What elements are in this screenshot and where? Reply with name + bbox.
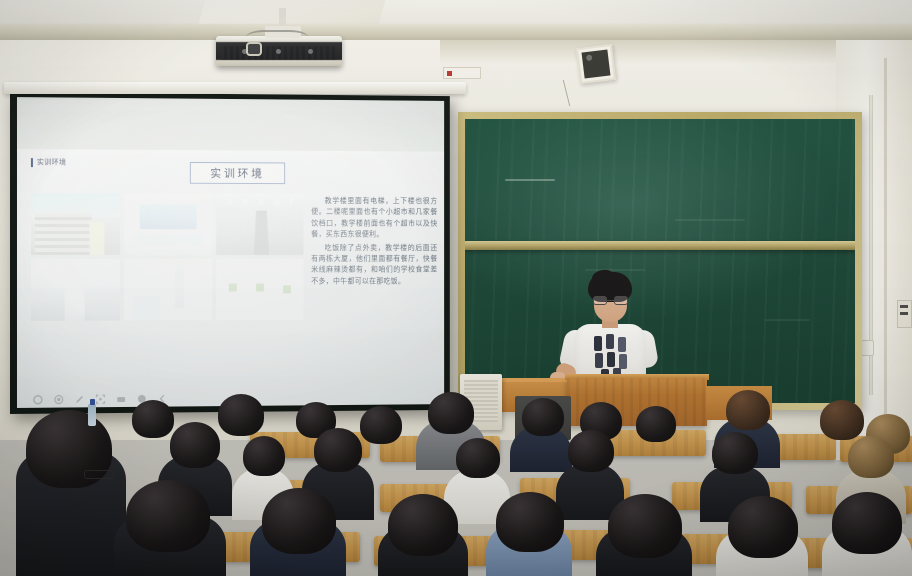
projector-lens xyxy=(246,42,262,56)
slide-photo-lecture-hall-interior xyxy=(216,194,303,255)
slide-title-box: 实训环境 xyxy=(190,162,285,184)
slide-photo-corridor-lit xyxy=(31,259,120,321)
projector-indicator xyxy=(276,49,281,54)
student-presenter xyxy=(556,272,660,390)
chalkboard-surface xyxy=(465,119,855,403)
glasses-bridge xyxy=(607,300,614,301)
student-head xyxy=(636,406,676,442)
screen-surface: 实训环境 实训环境 教学楼里面有电梯，上下楼也很方便。二 xyxy=(17,97,444,408)
slide-content: 教学楼里面有电梯，上下楼也很方便。二楼呢里面也有个小超市和几家餐饮档口，教学楼前… xyxy=(31,193,441,321)
student-glasses xyxy=(84,470,114,479)
student-head-foreground xyxy=(496,492,564,552)
student-head-foreground xyxy=(126,480,210,552)
student-head-foreground xyxy=(388,494,458,556)
student-head-foreground xyxy=(832,492,902,554)
speaker-grille xyxy=(582,50,611,79)
projector-cable xyxy=(246,30,308,44)
slide-title: 实训环境 xyxy=(210,165,264,181)
eyebrow-accent-bar xyxy=(31,158,33,167)
chalk-smudge xyxy=(505,179,555,181)
student-head xyxy=(726,390,770,430)
print-figure xyxy=(594,336,602,351)
wall-panel-seam xyxy=(884,58,887,418)
right-wall-plate xyxy=(897,300,912,328)
print-figure xyxy=(618,337,626,352)
projector-indicator xyxy=(308,49,313,54)
student-head xyxy=(314,428,362,472)
presenter-glasses xyxy=(593,296,628,305)
wall-outlet xyxy=(860,340,874,356)
student-head xyxy=(360,406,402,444)
chalk-rail xyxy=(465,241,855,250)
student-head-foreground xyxy=(262,488,336,554)
wall-mounted-speaker xyxy=(576,44,616,84)
slide-paragraph-1: 教学楼里面有电梯，上下楼也很方便。二楼呢里面也有个小超市和几家餐饮档口，教学楼前… xyxy=(311,195,437,240)
projection-screen: 实训环境 实训环境 教学楼里面有电梯，上下楼也很方便。二 xyxy=(10,92,450,414)
print-figure xyxy=(606,334,614,349)
student-head xyxy=(218,394,264,436)
screen-roller-housing xyxy=(4,82,466,94)
presentation-slide: 实训环境 实训环境 教学楼里面有电梯，上下楼也很方便。二 xyxy=(17,149,444,408)
student-head xyxy=(170,422,220,468)
student-head xyxy=(132,400,174,438)
student-head xyxy=(568,430,614,472)
slide-photo-lobby-reception xyxy=(124,193,212,255)
glasses-right-lens xyxy=(614,296,628,305)
glasses-left-lens xyxy=(593,296,607,305)
student-head xyxy=(428,392,474,434)
slide-text-column: 教学楼里面有电梯，上下楼也很方便。二楼呢里面也有个小超市和几家餐饮档口，教学楼前… xyxy=(311,194,437,320)
green-chalkboard xyxy=(458,112,862,410)
slide-paragraph-2: 吃饭除了点外卖，教学楼的后面还有两栋大厦，他们里面都有餐厅，快餐米线麻辣烫都有，… xyxy=(311,242,437,287)
student-head-foreground xyxy=(728,496,798,558)
chalk-smudge xyxy=(585,269,645,271)
slide-eyebrow-label: 实训环境 xyxy=(37,157,66,167)
student-audience xyxy=(0,396,912,576)
screen-blank-top xyxy=(17,97,444,152)
student-head xyxy=(522,398,564,436)
student-head xyxy=(712,432,758,474)
classroom-scene: 实训环境 实训环境 教学楼里面有电梯，上下楼也很方便。二 xyxy=(0,0,912,576)
slide-photo-campus-building-exterior xyxy=(31,193,120,255)
print-figure xyxy=(607,352,615,367)
student-head xyxy=(848,436,894,478)
student-head-foreground xyxy=(608,494,682,558)
print-figure xyxy=(595,353,603,368)
student-head xyxy=(456,438,500,478)
slide-photo-computer-lab xyxy=(216,259,303,320)
chalkboard-light-wash xyxy=(465,119,855,403)
ceiling-beam xyxy=(0,24,912,40)
print-figure xyxy=(619,354,627,369)
chalk-smudge xyxy=(675,219,745,221)
wall-switch-panel[interactable] xyxy=(443,67,481,79)
water-bottle xyxy=(88,404,96,426)
student-head xyxy=(820,400,864,440)
slide-photo-white-hallway xyxy=(124,259,212,321)
slide-photo-grid xyxy=(31,193,304,321)
student-head xyxy=(243,436,285,476)
chalk-smudge xyxy=(765,319,810,321)
